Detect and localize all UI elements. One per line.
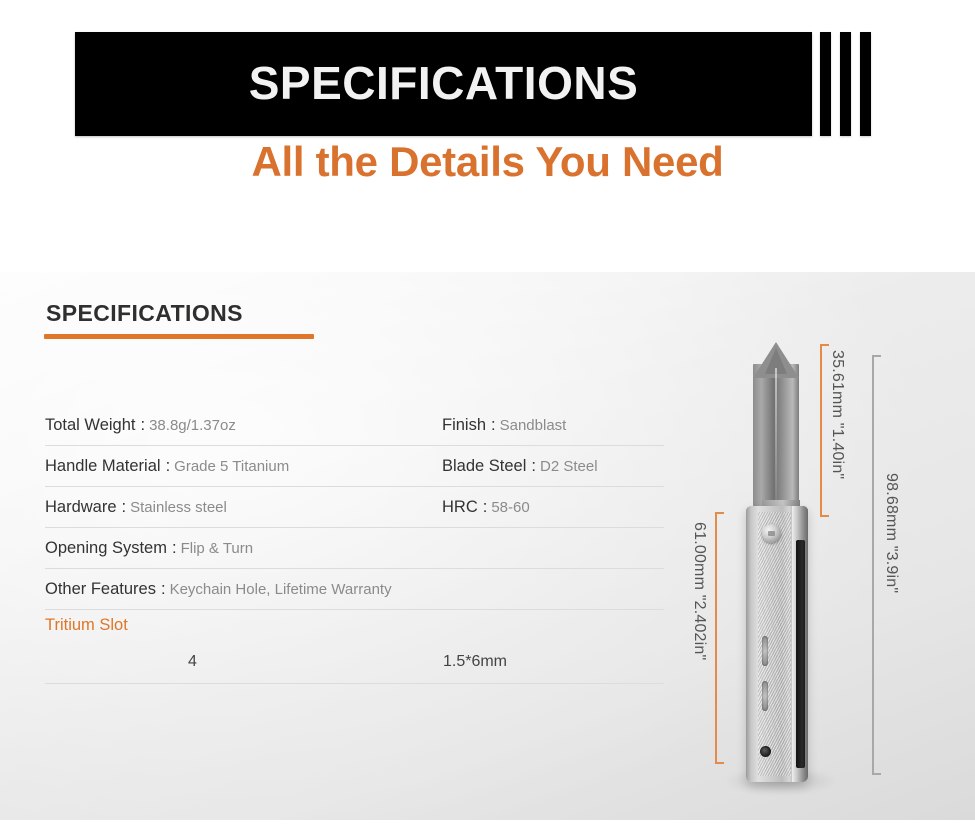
knife-product-image <box>746 342 808 782</box>
stripe-bar-3 <box>860 32 871 136</box>
specifications-panel: SPECIFICATIONS Total Weight : 38.8g/1.37… <box>0 272 975 820</box>
table-row: Other Features : Keychain Hole, Lifetime… <box>45 569 664 610</box>
spec-table: Total Weight : 38.8g/1.37oz Finish : San… <box>45 405 664 684</box>
spec-value: 58-60 <box>491 499 529 516</box>
dimension-cap-bottom <box>715 762 724 764</box>
spec-colon: : <box>141 416 146 435</box>
banner-black-block: SPECIFICATIONS <box>75 32 812 136</box>
spec-label: Finish <box>442 416 486 435</box>
handle-blade-channel <box>796 540 805 768</box>
spec-cell-blade-steel: Blade Steel : D2 Steel <box>442 457 664 476</box>
spec-cell-finish: Finish : Sandblast <box>442 416 664 435</box>
spec-label: Hardware <box>45 498 117 517</box>
spec-colon: : <box>172 539 177 558</box>
spec-cell-handle-material: Handle Material : Grade 5 Titanium <box>45 457 442 476</box>
spec-value: Stainless steel <box>130 499 227 516</box>
pivot-screw-icon <box>762 524 781 543</box>
spec-value: 38.8g/1.37oz <box>149 417 236 434</box>
spec-label: HRC <box>442 498 478 517</box>
banner-title: SPECIFICATIONS <box>249 60 639 106</box>
table-row: Handle Material : Grade 5 Titanium Blade… <box>45 446 664 487</box>
spec-value: D2 Steel <box>540 458 598 475</box>
spec-cell-other-features: Other Features : Keychain Hole, Lifetime… <box>45 580 442 599</box>
banner-row: SPECIFICATIONS <box>75 32 905 136</box>
spec-value: Keychain Hole, Lifetime Warranty <box>170 581 392 598</box>
tritium-slot-title: Tritium Slot <box>45 616 128 635</box>
spec-colon: : <box>531 457 536 476</box>
dimension-line <box>715 512 717 764</box>
spec-cell-hrc: HRC : 58-60 <box>442 498 664 517</box>
table-row: Total Weight : 38.8g/1.37oz Finish : San… <box>45 405 664 446</box>
knife-handle <box>746 506 808 782</box>
dimension-line <box>872 355 874 775</box>
spec-colon: : <box>483 498 488 517</box>
product-image-area: 35.61mm "1.40in" 61.00mm "2.402in" 98.68… <box>668 272 975 820</box>
dimension-handle-label: 61.00mm "2.402in" <box>690 522 708 660</box>
spec-label: Handle Material <box>45 457 161 476</box>
section-title: SPECIFICATIONS <box>46 300 243 327</box>
dimension-cap-bottom <box>872 773 881 775</box>
dimension-cap-bottom <box>820 515 829 517</box>
tritium-slot-values-row: 4 1.5*6mm <box>45 641 664 684</box>
spec-cell-hardware: Hardware : Stainless steel <box>45 498 442 517</box>
dimension-cap-top <box>872 355 881 357</box>
dimension-line <box>820 344 822 517</box>
spec-colon: : <box>161 580 166 599</box>
banner-stripes <box>820 32 871 136</box>
dimension-blade-label: 35.61mm "1.40in" <box>828 350 846 479</box>
blade-bevel <box>775 368 777 504</box>
table-row: Opening System : Flip & Turn <box>45 528 664 569</box>
dimension-cap-top <box>715 512 724 514</box>
spec-value: Sandblast <box>500 417 567 434</box>
spec-label: Blade Steel <box>442 457 526 476</box>
spec-value: Grade 5 Titanium <box>174 458 289 475</box>
spec-colon: : <box>491 416 496 435</box>
tritium-slot-heading: Tritium Slot <box>45 610 664 641</box>
spec-cell-opening-system: Opening System : Flip & Turn <box>45 539 442 558</box>
spec-colon: : <box>166 457 171 476</box>
tritium-slot-size: 1.5*6mm <box>340 653 610 671</box>
table-row: Hardware : Stainless steel HRC : 58-60 <box>45 487 664 528</box>
spec-colon: : <box>122 498 127 517</box>
dimension-total-label: 98.68mm "3.9in" <box>882 473 900 593</box>
page-header: SPECIFICATIONS All the Details You Need <box>0 0 975 265</box>
tritium-slot-icon <box>762 681 768 711</box>
knife-blade <box>753 342 799 507</box>
spec-cell-total-weight: Total Weight : 38.8g/1.37oz <box>45 416 442 435</box>
spec-label: Total Weight <box>45 416 136 435</box>
spec-value: Flip & Turn <box>181 540 254 557</box>
spec-label: Opening System <box>45 539 167 558</box>
spec-label: Other Features <box>45 580 156 599</box>
dimension-cap-top <box>820 344 829 346</box>
header-subtitle: All the Details You Need <box>0 138 975 186</box>
keychain-hole-icon <box>760 746 771 757</box>
tritium-slot-icon <box>762 636 768 666</box>
stripe-bar-1 <box>820 32 831 136</box>
tritium-slot-count: 4 <box>45 653 340 671</box>
stripe-bar-2 <box>840 32 851 136</box>
section-underline <box>44 334 314 339</box>
